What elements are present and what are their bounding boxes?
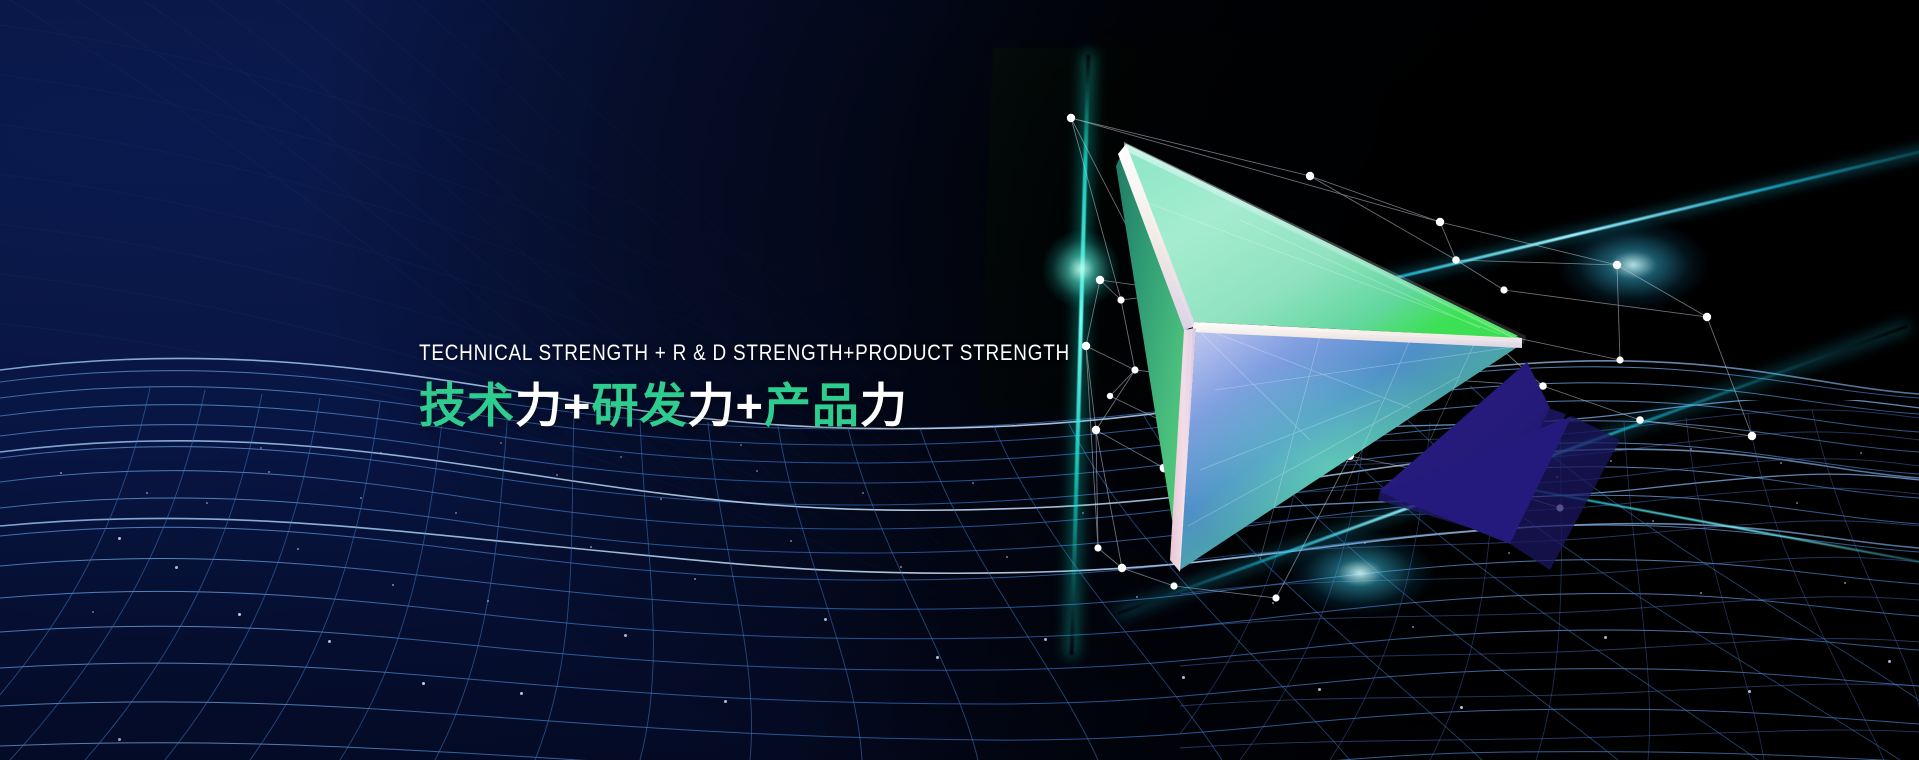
hero-copy-block: TECHNICAL STRENGTH + R & D STRENGTH+PROD…: [419, 340, 1059, 434]
headline-segment-0: 技术: [419, 379, 515, 432]
headline-segment-7: 力: [860, 379, 908, 432]
hero-eyebrow-text: TECHNICAL STRENGTH + R & D STRENGTH+PROD…: [419, 340, 969, 366]
hero-banner: TECHNICAL STRENGTH + R & D STRENGTH+PROD…: [0, 0, 1919, 760]
headline-segment-4: 力: [687, 379, 735, 432]
triangle-play-logo-icon: [1080, 140, 1720, 620]
headline-segment-6: 产品: [764, 379, 860, 432]
headline-segment-1: 力: [515, 379, 563, 432]
headline-segment-2: +: [563, 379, 591, 432]
hero-headline: 技术力+研发力+产品力: [419, 378, 1059, 434]
headline-segment-5: +: [735, 379, 763, 432]
headline-segment-3: 研发: [591, 379, 687, 432]
